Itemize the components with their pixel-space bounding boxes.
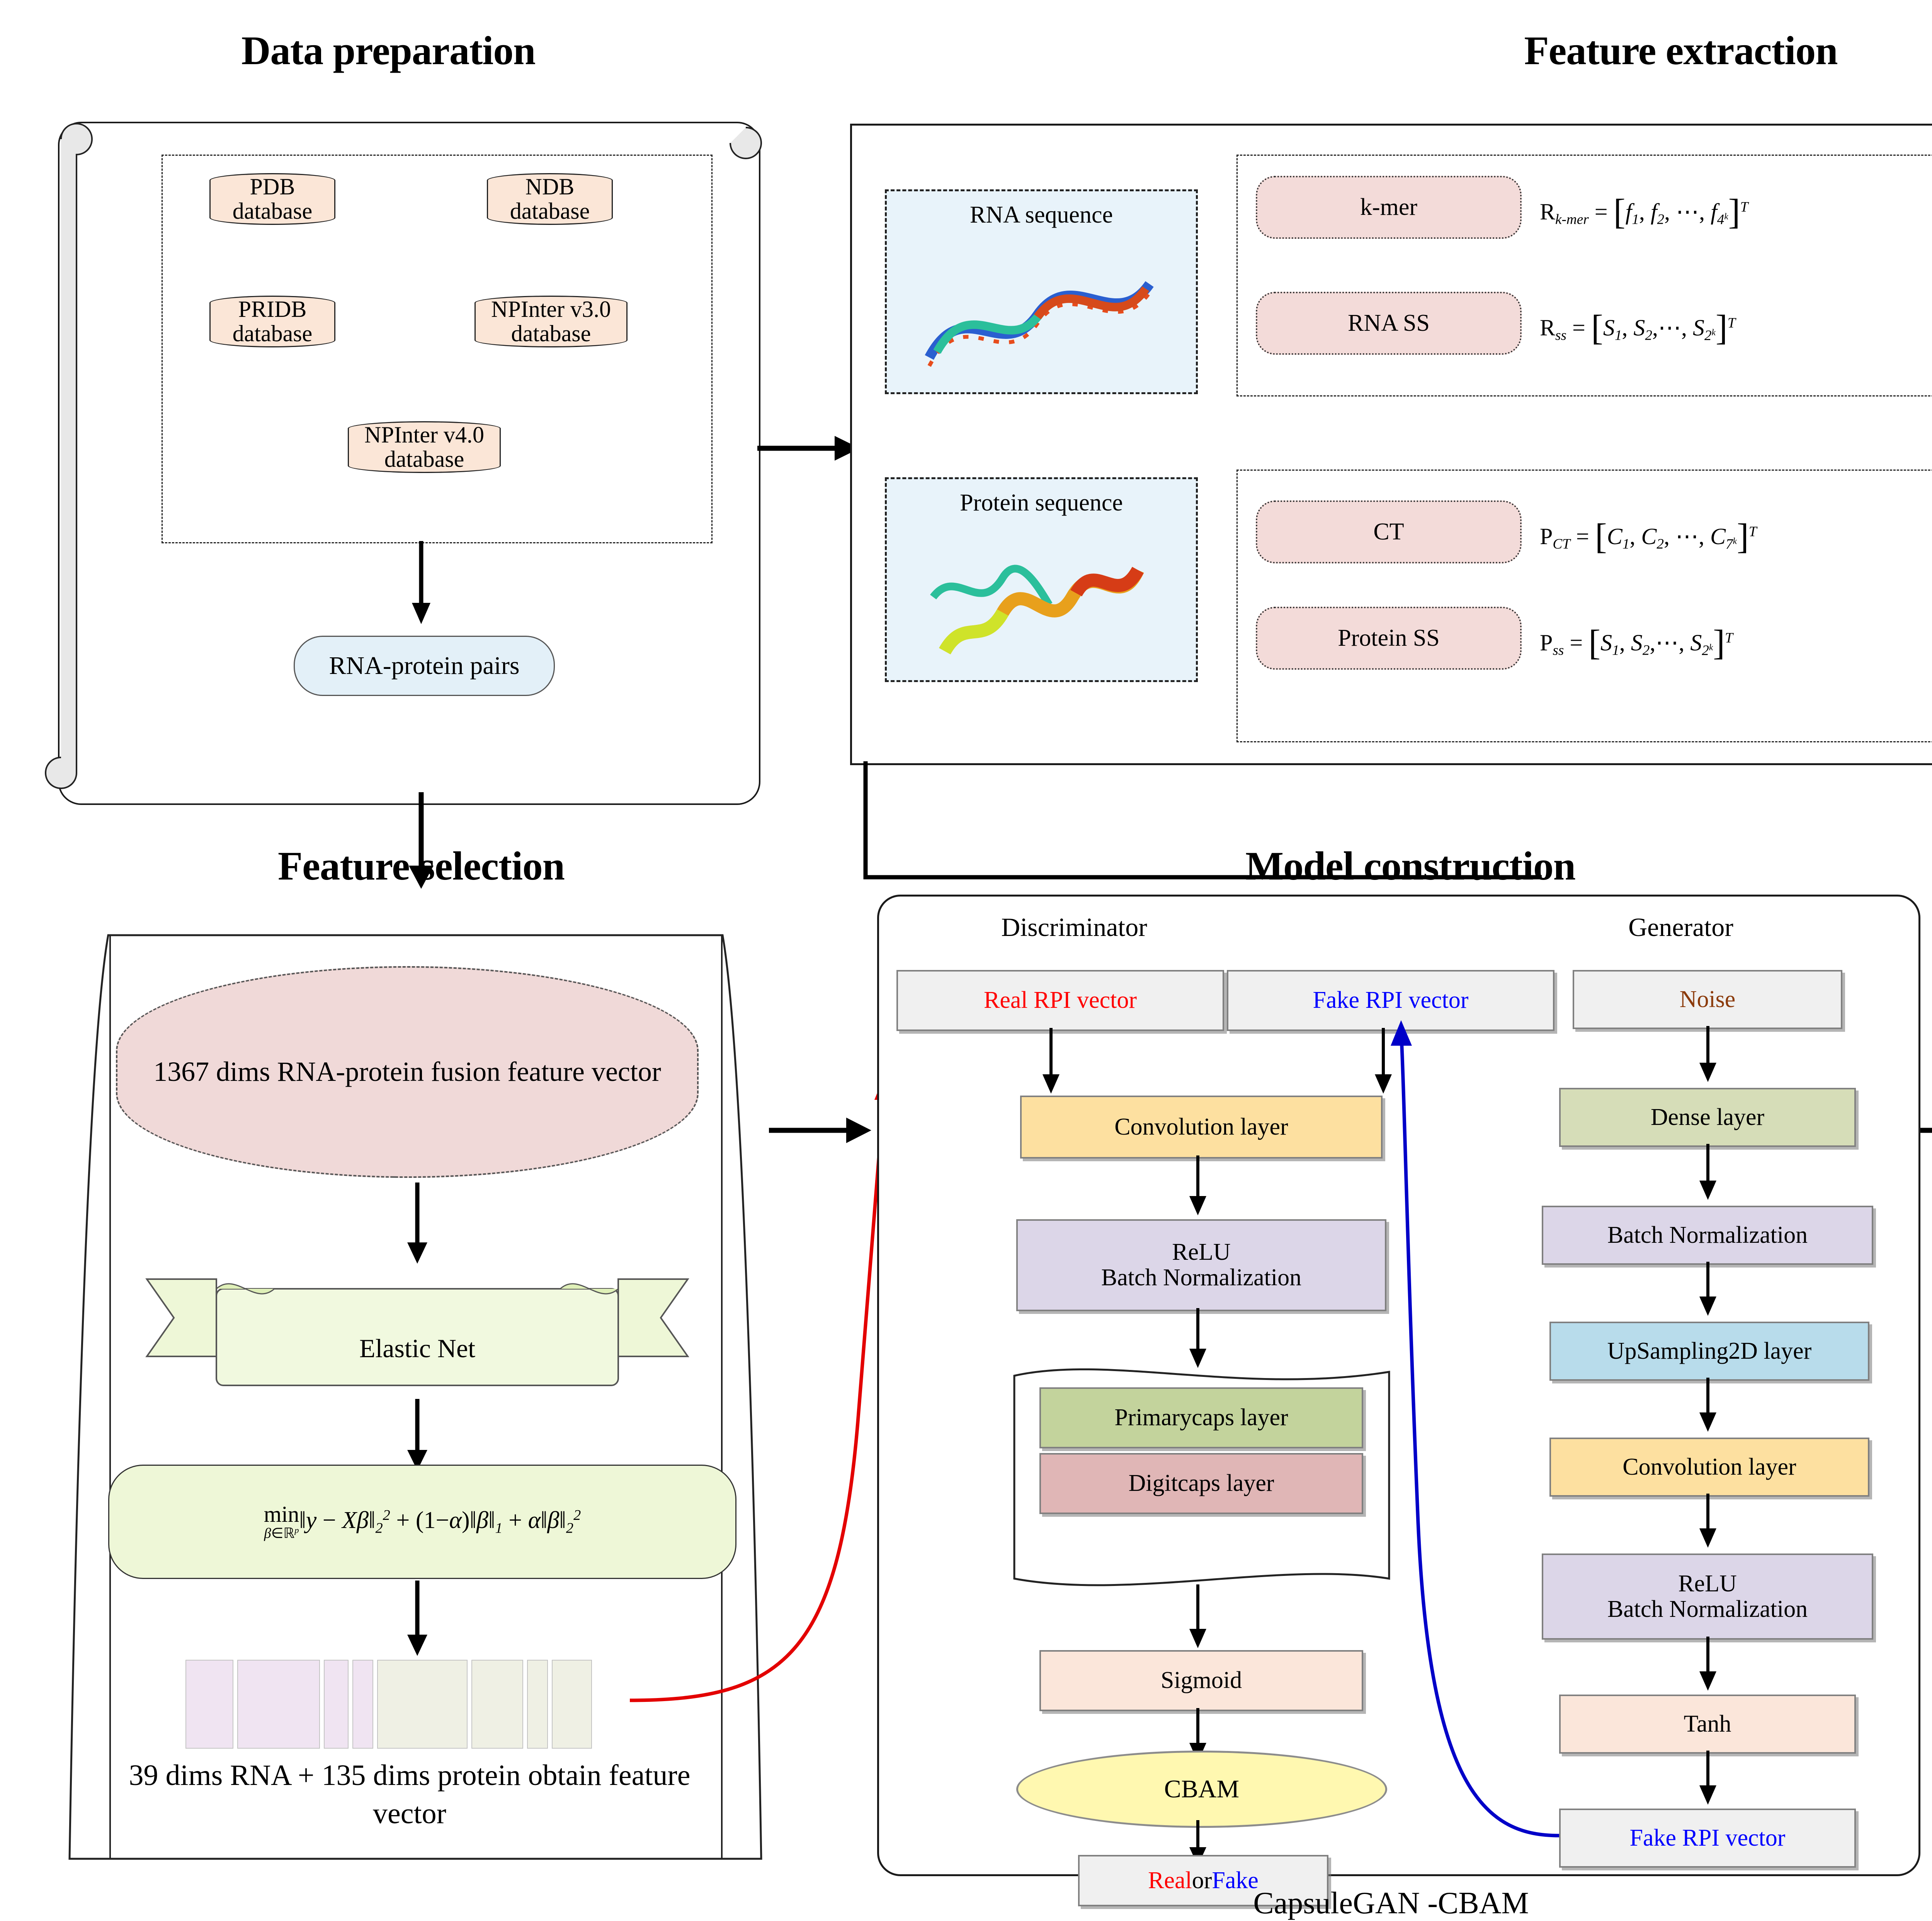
- selected-feature-caption: 39 dims RNA + 135 dims protein obtain fe…: [116, 1756, 703, 1833]
- connector-fake-to-disc: [1376, 1020, 1577, 1843]
- db-npinter-v3-label: NPInter v3.0 database: [491, 297, 611, 346]
- feature-cell: [237, 1660, 320, 1749]
- method-k-mer[interactable]: k-mer: [1256, 176, 1522, 239]
- db-pridb: PRIDB database: [209, 296, 335, 347]
- arrow-conv-to-relu-gen: [1681, 1494, 1750, 1553]
- rna-sequence-label: RNA sequence: [970, 201, 1113, 229]
- gen-fake-rpi-vector-label: Fake RPI vector: [1630, 1826, 1786, 1851]
- feature-cell: [471, 1660, 523, 1749]
- arrow-tanh-to-fake: [1681, 1751, 1750, 1810]
- arrow-db-to-pairs: [410, 541, 456, 630]
- cbam-label: CBAM: [1164, 1775, 1239, 1804]
- method-rna-ss[interactable]: RNA SS: [1256, 292, 1522, 355]
- formula-ct: PCT = [C1, C2, ⋯, C7k]T: [1540, 516, 1757, 557]
- digitcaps-layer-label: Digitcaps layer: [1128, 1471, 1274, 1496]
- arrow-upsample-to-conv: [1681, 1378, 1750, 1438]
- primarycaps-layer-label: Primarycaps layer: [1114, 1405, 1288, 1431]
- fake-rpi-vector-input-label: Fake RPI vector: [1313, 988, 1469, 1013]
- arrow-dense-to-bn: [1681, 1144, 1750, 1206]
- digitcaps-layer[interactable]: Digitcaps layer: [1039, 1453, 1363, 1514]
- rna-protein-pairs-node: RNA-protein pairs: [294, 636, 555, 696]
- gen-fake-rpi-vector-output[interactable]: Fake RPI vector: [1559, 1809, 1856, 1868]
- gen-upsampling2d-layer[interactable]: UpSampling2D layer: [1549, 1322, 1869, 1381]
- fusion-feature-label: 1367 dims RNA-protein fusion feature vec…: [153, 1053, 661, 1091]
- section-title-data-preparation: Data preparation: [108, 27, 668, 74]
- protein-sequence-box: Protein sequence: [885, 477, 1198, 682]
- discriminator-label: Discriminator: [900, 912, 1248, 943]
- method-protein-ss-label: Protein SS: [1338, 626, 1440, 650]
- objective-formula: min β∈ℝp ‖y − Xβ‖22 + (1−α)‖β‖1 + α‖β‖22: [264, 1503, 581, 1540]
- db-pdb-label: PDB database: [233, 175, 313, 223]
- arrow-objective-to-vector: [402, 1581, 448, 1658]
- arrow-cloud-to-elasticnet: [402, 1183, 448, 1268]
- gen-convolution-layer-label: Convolution layer: [1622, 1455, 1796, 1480]
- protein-sequence-label: Protein sequence: [960, 489, 1123, 517]
- selected-feature-vector: [185, 1660, 638, 1749]
- method-rna-ss-label: RNA SS: [1348, 311, 1430, 335]
- disc-relu-batchnorm[interactable]: ReLU Batch Normalization: [1016, 1219, 1386, 1311]
- formula-protein-ss: Pss = [S1, S2,⋯, S2k]T: [1540, 622, 1733, 664]
- section-title-feature-extraction: Feature extraction: [1352, 27, 1932, 74]
- gen-dense-layer[interactable]: Dense layer: [1559, 1088, 1856, 1147]
- feature-cell: [552, 1660, 592, 1749]
- feature-cell: [185, 1660, 233, 1749]
- gen-relu-batchnorm[interactable]: ReLU Batch Normalization: [1542, 1553, 1873, 1640]
- db-npinter-v3: NPInter v3.0 database: [474, 296, 628, 347]
- disc-relu-label: ReLU: [1172, 1240, 1231, 1265]
- gen-convolution-layer[interactable]: Convolution layer: [1549, 1438, 1869, 1497]
- feature-cell: [324, 1660, 349, 1749]
- gen-batch-normalization[interactable]: Batch Normalization: [1542, 1206, 1873, 1265]
- capsulegan-cbam-footer: CapsuleGAN -CBAM: [1121, 1886, 1662, 1921]
- db-pdb: PDB database: [209, 173, 335, 225]
- db-ndb-label: NDB database: [510, 175, 590, 223]
- section-title-feature-selection: Feature selection: [108, 842, 734, 889]
- real-rpi-vector-input[interactable]: Real RPI vector: [896, 970, 1224, 1031]
- method-k-mer-label: k-mer: [1360, 195, 1417, 219]
- arrow-model-to-prediction: [1920, 1113, 1932, 1148]
- feature-cell: [527, 1660, 548, 1749]
- fusion-feature-cloud: 1367 dims RNA-protein fusion feature vec…: [116, 966, 699, 1178]
- feature-cell: [352, 1660, 373, 1749]
- arrow-noise-to-dense: [1681, 1026, 1750, 1088]
- elastic-net-ribbon: [147, 1268, 688, 1395]
- disc-convolution-layer[interactable]: Convolution layer: [1020, 1096, 1383, 1159]
- formula-k-mer: Rk-mer = [f1, f2, ⋯, f4k]T: [1540, 191, 1748, 233]
- disc-convolution-layer-label: Convolution layer: [1114, 1114, 1288, 1140]
- generator-label: Generator: [1507, 912, 1855, 943]
- rna-sequence-box: RNA sequence: [885, 189, 1198, 394]
- db-npinter-v4: NPInter v4.0 database: [348, 421, 501, 473]
- gen-tanh-layer-label: Tanh: [1684, 1712, 1731, 1737]
- feature-cell: [377, 1660, 468, 1749]
- db-pridb-label: PRIDB database: [233, 297, 313, 346]
- real-rpi-vector-label: Real RPI vector: [984, 988, 1137, 1013]
- protein-helix-icon: [922, 555, 1161, 670]
- primarycaps-layer[interactable]: Primarycaps layer: [1039, 1387, 1363, 1448]
- formula-rna-ss: Rss = [S1, S2,⋯, S2k]T: [1540, 307, 1736, 349]
- sigmoid-layer[interactable]: Sigmoid: [1039, 1650, 1363, 1711]
- sigmoid-layer-label: Sigmoid: [1161, 1668, 1242, 1693]
- gen-batch-normalization-label: Batch Normalization: [1607, 1223, 1808, 1248]
- section-title-model-construction: Model construction: [947, 842, 1874, 889]
- gen-upsampling2d-layer-label: UpSampling2D layer: [1607, 1339, 1812, 1364]
- rna-helix-icon: [922, 269, 1161, 381]
- arrow-bn-to-upsample: [1681, 1262, 1750, 1322]
- arrow-selection-to-model: [769, 1113, 885, 1148]
- rna-protein-pairs-label: RNA-protein pairs: [329, 651, 519, 681]
- method-ct-label: CT: [1373, 520, 1404, 544]
- elastic-net-label: Elastic Net: [216, 1333, 618, 1364]
- db-npinter-v4-label: NPInter v4.0 database: [364, 423, 484, 471]
- noise-label: Noise: [1680, 987, 1736, 1012]
- gen-tanh-layer[interactable]: Tanh: [1559, 1695, 1856, 1754]
- gen-relu-label: ReLU: [1678, 1571, 1737, 1597]
- gen-batchnorm-label: Batch Normalization: [1607, 1597, 1808, 1622]
- cbam-module[interactable]: CBAM: [1016, 1751, 1387, 1828]
- method-ct[interactable]: CT: [1256, 500, 1522, 563]
- arrow-relu-to-tanh: [1681, 1637, 1750, 1696]
- generator-noise-input[interactable]: Noise: [1573, 970, 1842, 1029]
- gen-dense-layer-label: Dense layer: [1651, 1105, 1764, 1130]
- arrow-elasticnet-to-objective: [402, 1399, 448, 1472]
- method-protein-ss[interactable]: Protein SS: [1256, 607, 1522, 670]
- disc-batchnorm-label: Batch Normalization: [1101, 1265, 1301, 1291]
- db-ndb: NDB database: [487, 173, 613, 225]
